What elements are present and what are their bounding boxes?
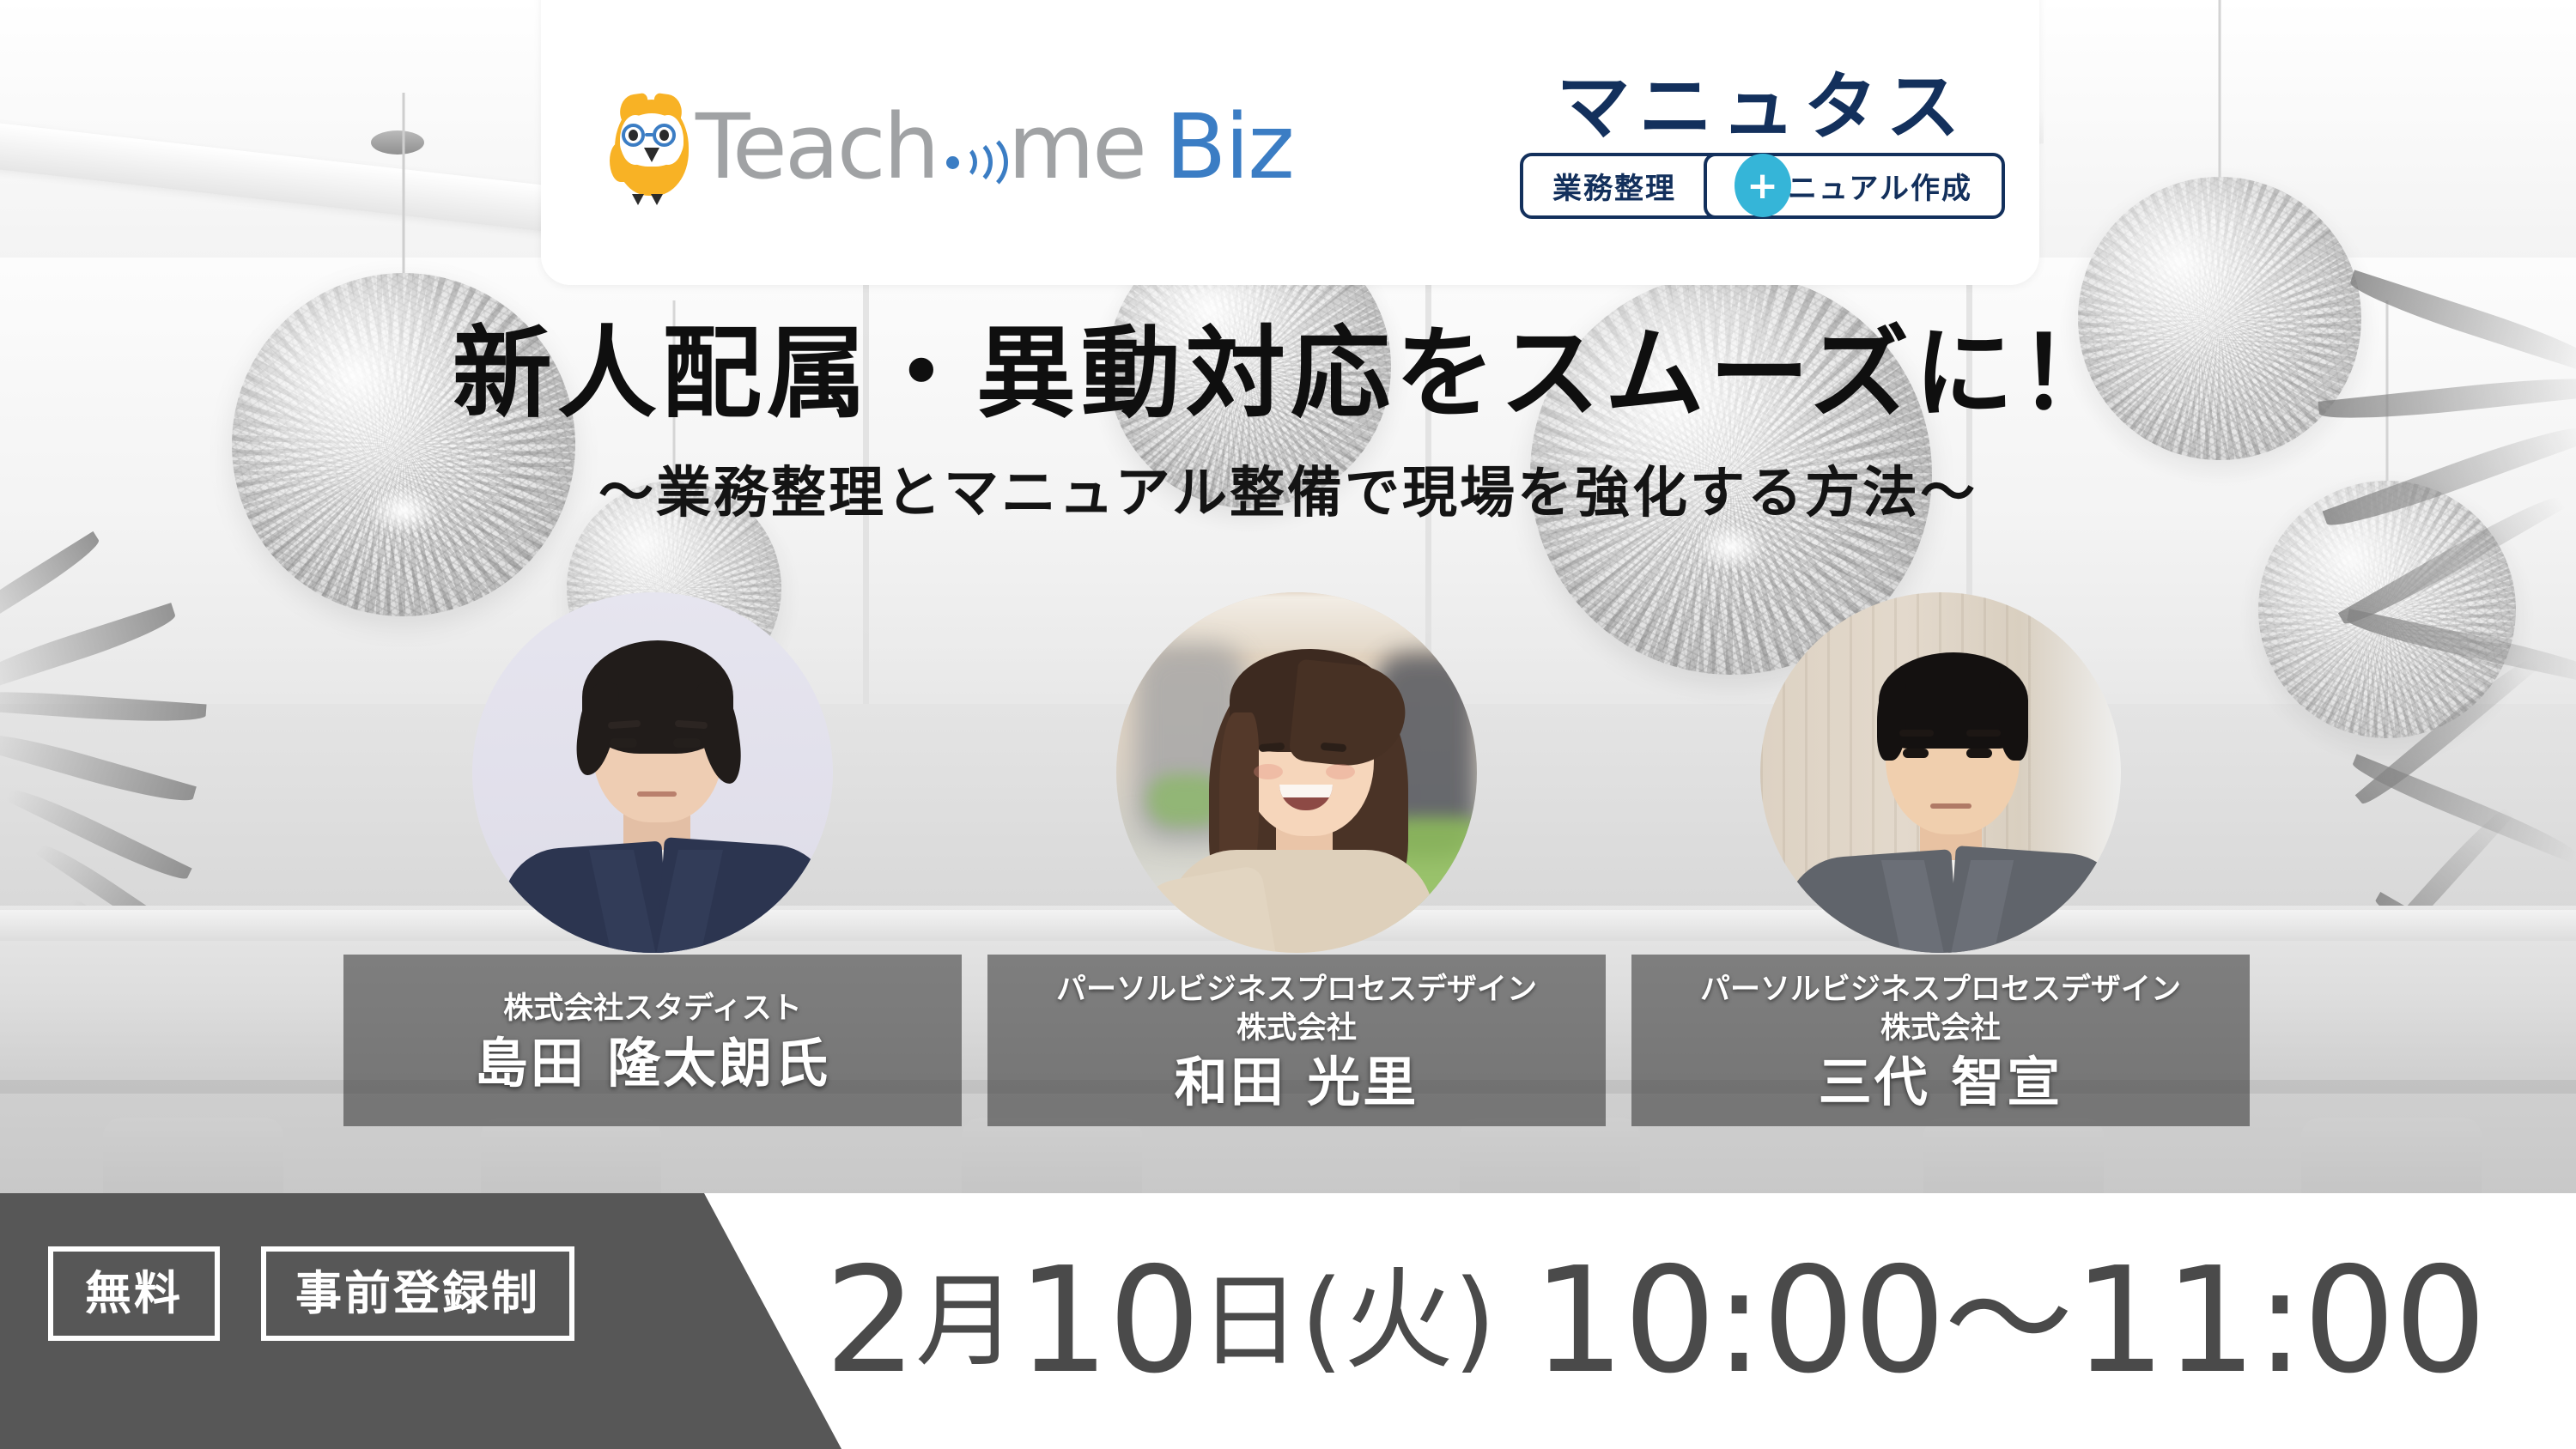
manutasu-name: マニュタス bbox=[1557, 70, 1969, 144]
owl-mascot-icon bbox=[601, 94, 690, 199]
speaker-name: 島田 隆太朗氏 bbox=[475, 1034, 831, 1093]
teachme-biz-logo: Teach me Biz bbox=[601, 94, 1293, 199]
event-day: 10 bbox=[1017, 1248, 1199, 1394]
event-time-end: 11:00 bbox=[2073, 1248, 2485, 1394]
plus-icon: + bbox=[1735, 154, 1791, 217]
avatar bbox=[472, 592, 833, 953]
event-month: 2 bbox=[824, 1248, 915, 1394]
speaker-nameplate: パーソルビジネスプロセスデザイン 株式会社 三代 智宣 bbox=[1631, 955, 2250, 1126]
event-day-unit: 日 bbox=[1200, 1270, 1301, 1372]
footer-bar: 無料 事前登録制 2 月 10 日 (火) 10:00 ～ 11:00 bbox=[0, 1193, 2576, 1449]
tag-preregistration: 事前登録制 bbox=[261, 1246, 574, 1341]
logo-word-me: me bbox=[1008, 102, 1145, 191]
avatar bbox=[1116, 592, 1477, 953]
logo-card: Teach me Biz マニュタス 業務整理 + マニュアル作成 bbox=[541, 0, 2039, 285]
speaker-org: 株式会社スタディスト bbox=[503, 991, 802, 1027]
event-time-separator: ～ bbox=[1944, 1257, 2073, 1385]
logo-word-teach: Teach bbox=[696, 102, 938, 191]
event-month-unit: 月 bbox=[915, 1270, 1017, 1372]
footer-tags: 無料 事前登録制 bbox=[48, 1246, 574, 1341]
speaker-name: 和田 光里 bbox=[1175, 1053, 1419, 1112]
speaker-list: 株式会社スタディスト 島田 隆太朗氏 bbox=[0, 592, 2576, 1125]
webinar-banner: Teach me Biz マニュタス 業務整理 + マニュアル作成 bbox=[0, 0, 2576, 1449]
speaker-nameplate: 株式会社スタディスト 島田 隆太朗氏 bbox=[343, 955, 962, 1126]
wifi-signal-icon bbox=[943, 111, 1003, 183]
event-time-start: 10:00 bbox=[1532, 1248, 1944, 1394]
speaker-card: パーソルビジネスプロセスデザイン 株式会社 三代 智宣 bbox=[1631, 592, 2250, 953]
badge-gyomu-seiri: 業務整理 bbox=[1520, 153, 1729, 219]
speaker-name: 三代 智宣 bbox=[1819, 1053, 2063, 1112]
avatar bbox=[1760, 592, 2121, 953]
speaker-card: パーソルビジネスプロセスデザイン 株式会社 和田 光里 bbox=[987, 592, 1606, 953]
event-day-of-week: (火) bbox=[1301, 1266, 1497, 1376]
tag-free: 無料 bbox=[48, 1246, 220, 1341]
manutasu-badges: 業務整理 + マニュアル作成 bbox=[1520, 153, 2005, 219]
logo-word-biz: Biz bbox=[1165, 102, 1293, 191]
manutasu-logo: マニュタス 業務整理 + マニュアル作成 bbox=[1520, 70, 2005, 224]
speaker-org-line2: 株式会社 bbox=[1880, 1011, 2001, 1046]
speaker-org: パーソルビジネスプロセスデザイン bbox=[1056, 973, 1537, 1008]
event-datetime: 2 月 10 日 (火) 10:00 ～ 11:00 bbox=[824, 1193, 2485, 1449]
speaker-org-line2: 株式会社 bbox=[1236, 1011, 1357, 1046]
speaker-nameplate: パーソルビジネスプロセスデザイン 株式会社 和田 光里 bbox=[987, 955, 1606, 1126]
page-subtitle: ～業務整理とマニュアル整備で現場を強化する方法～ bbox=[0, 464, 2576, 524]
page-title: 新人配属・異動対応をスムーズに！ bbox=[0, 319, 2576, 429]
speaker-card: 株式会社スタディスト 島田 隆太朗氏 bbox=[343, 592, 962, 953]
speaker-org: パーソルビジネスプロセスデザイン bbox=[1700, 973, 2181, 1008]
